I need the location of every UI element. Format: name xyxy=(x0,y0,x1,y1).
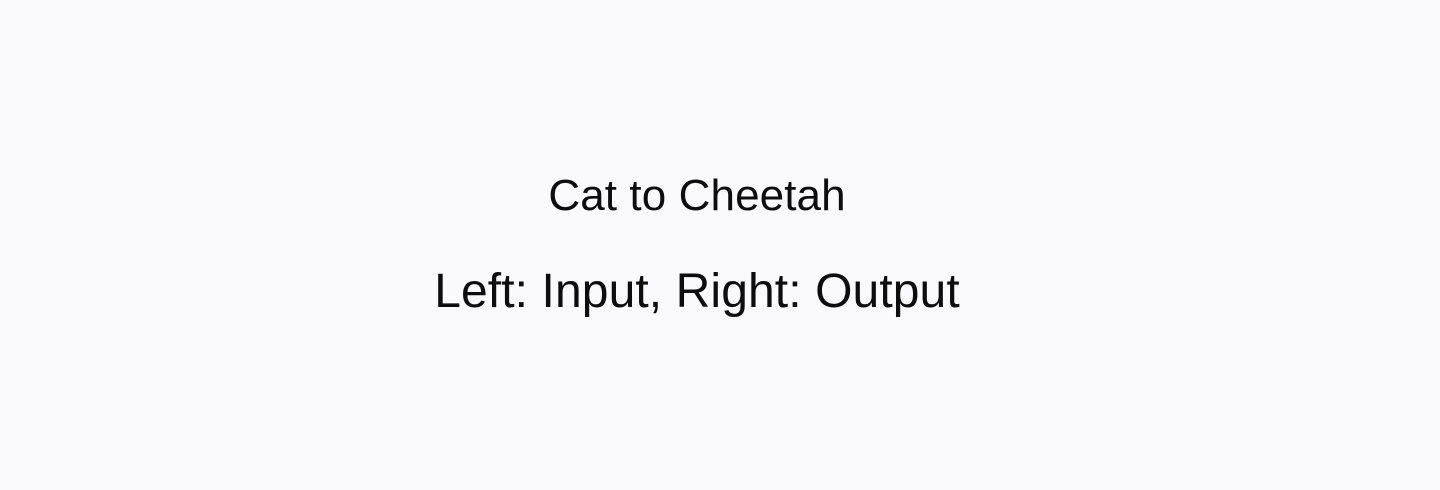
slide-canvas: Cat to Cheetah Left: Input, Right: Outpu… xyxy=(0,0,1440,490)
caption-block: Cat to Cheetah Left: Input, Right: Outpu… xyxy=(0,0,1394,490)
caption-subtitle: Left: Input, Right: Output xyxy=(434,264,960,320)
caption-title: Cat to Cheetah xyxy=(548,170,845,222)
